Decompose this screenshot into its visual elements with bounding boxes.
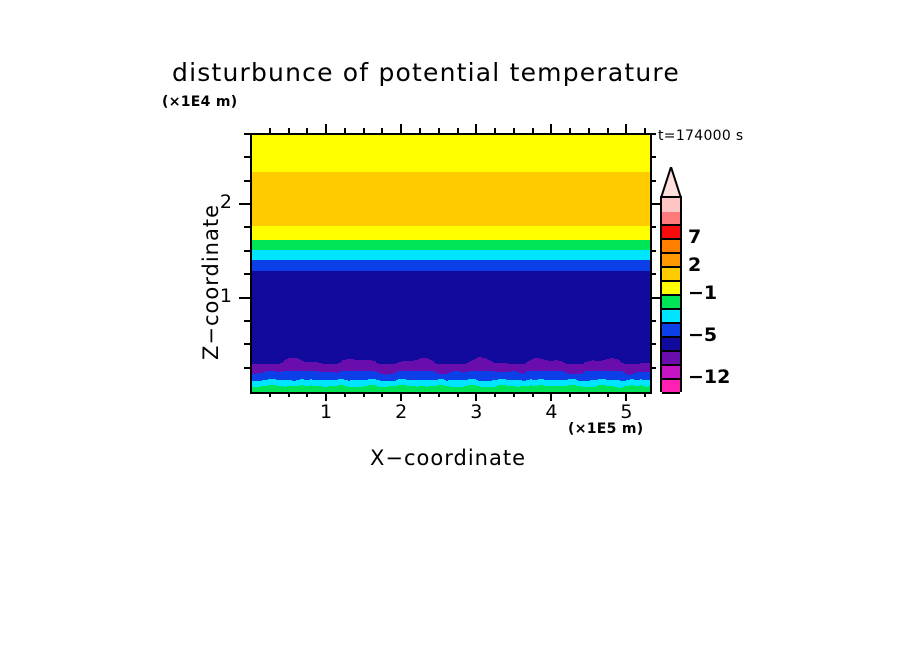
y-tick-minor-right	[650, 226, 656, 228]
x-tick-minor	[438, 392, 440, 397]
x-tick-label: 1	[311, 401, 341, 423]
colorbar-tick-label: −12	[688, 366, 730, 388]
colorbar-segment	[662, 380, 680, 394]
x-tick-minor	[344, 392, 346, 397]
colorbar-segment	[662, 366, 680, 380]
x-tick-major-top	[550, 124, 552, 133]
x-tick-minor-top	[569, 128, 571, 133]
x-tick-minor-top	[438, 128, 440, 133]
x-tick-minor	[532, 392, 534, 397]
y-tick-minor	[244, 133, 250, 135]
x-tick-minor	[381, 392, 383, 397]
colorbar-tick-label: −1	[688, 282, 717, 304]
y-tick-minor-right	[650, 156, 656, 158]
contour-field	[252, 135, 650, 392]
chart-title: disturbunce of potential temperature	[172, 58, 680, 87]
x-axis-unit-label: (×1E5 m)	[568, 421, 643, 437]
x-tick-major	[325, 392, 327, 401]
x-tick-minor	[288, 392, 290, 397]
colorbar-tick-label: 2	[688, 254, 701, 276]
x-tick-minor	[607, 392, 609, 397]
y-tick-minor	[244, 367, 250, 369]
x-tick-major-top	[325, 124, 327, 133]
y-tick-minor-right	[650, 133, 656, 135]
colorbar-segment	[662, 324, 680, 338]
y-axis-unit-label: (×1E4 m)	[162, 94, 237, 110]
y-tick-minor-right	[650, 320, 656, 322]
colorbar-segment	[662, 226, 680, 240]
x-tick-label: 3	[461, 401, 491, 423]
colorbar-segment	[662, 212, 680, 226]
x-tick-major-top	[625, 124, 627, 133]
x-tick-minor-top	[513, 128, 515, 133]
x-tick-minor-top	[644, 128, 646, 133]
x-tick-label: 2	[386, 401, 416, 423]
x-tick-major	[550, 392, 552, 401]
x-tick-minor-top	[306, 128, 308, 133]
y-tick-minor-right	[650, 367, 656, 369]
x-tick-minor	[588, 392, 590, 397]
x-tick-label: 4	[536, 401, 566, 423]
colorbar-segment	[662, 240, 680, 254]
y-tick-minor	[244, 180, 250, 182]
x-tick-minor-top	[588, 128, 590, 133]
x-tick-major-top	[475, 124, 477, 133]
y-tick-minor	[244, 156, 250, 158]
x-tick-minor-top	[363, 128, 365, 133]
colorbar-segment	[662, 338, 680, 352]
y-tick-minor	[244, 250, 250, 252]
y-tick-minor	[244, 320, 250, 322]
x-tick-minor	[457, 392, 459, 397]
x-tick-minor	[363, 392, 365, 397]
x-tick-minor	[569, 392, 571, 397]
colorbar-segment	[662, 310, 680, 324]
y-tick-minor	[244, 343, 250, 345]
y-tick-minor-right	[650, 343, 656, 345]
contour-plot-area	[250, 133, 652, 394]
y-tick-minor-right	[650, 273, 656, 275]
colorbar-tick-label: 7	[688, 226, 701, 248]
y-tick-minor-right	[650, 180, 656, 182]
x-tick-minor-top	[457, 128, 459, 133]
x-tick-minor-top	[494, 128, 496, 133]
y-tick-minor	[244, 226, 250, 228]
colorbar-segment	[662, 282, 680, 296]
x-tick-minor-top	[288, 128, 290, 133]
time-annotation: t=174000 s	[658, 128, 743, 144]
colorbar-segment	[662, 268, 680, 282]
x-tick-minor	[513, 392, 515, 397]
colorbar-arrow-icon	[660, 167, 682, 198]
colorbar	[660, 196, 682, 392]
y-tick-minor	[244, 273, 250, 275]
x-tick-major	[475, 392, 477, 401]
x-tick-major	[625, 392, 627, 401]
x-axis-label: X−coordinate	[370, 446, 526, 470]
wave-layer-green	[252, 135, 650, 392]
x-tick-major	[400, 392, 402, 401]
x-tick-minor-top	[381, 128, 383, 133]
y-tick-minor-right	[650, 250, 656, 252]
x-tick-minor-top	[607, 128, 609, 133]
x-tick-minor-top	[532, 128, 534, 133]
x-tick-minor-top	[419, 128, 421, 133]
y-tick-major	[239, 203, 250, 205]
y-tick-major	[239, 297, 250, 299]
colorbar-segment	[662, 296, 680, 310]
x-tick-label: 5	[611, 401, 641, 423]
colorbar-segment	[662, 198, 680, 212]
figure-canvas: disturbunce of potential temperature (×1…	[0, 0, 904, 654]
colorbar-extend-arrow	[660, 167, 682, 198]
x-tick-minor	[269, 392, 271, 397]
x-tick-minor	[306, 392, 308, 397]
colorbar-segment	[662, 254, 680, 268]
x-tick-minor-top	[344, 128, 346, 133]
x-tick-minor	[494, 392, 496, 397]
x-tick-minor-top	[269, 128, 271, 133]
colorbar-tick-label: −5	[688, 324, 717, 346]
x-tick-major-top	[400, 124, 402, 133]
x-tick-minor	[644, 392, 646, 397]
x-tick-minor	[419, 392, 421, 397]
colorbar-segment	[662, 352, 680, 366]
y-axis-label: Z−coordinate	[199, 204, 223, 360]
